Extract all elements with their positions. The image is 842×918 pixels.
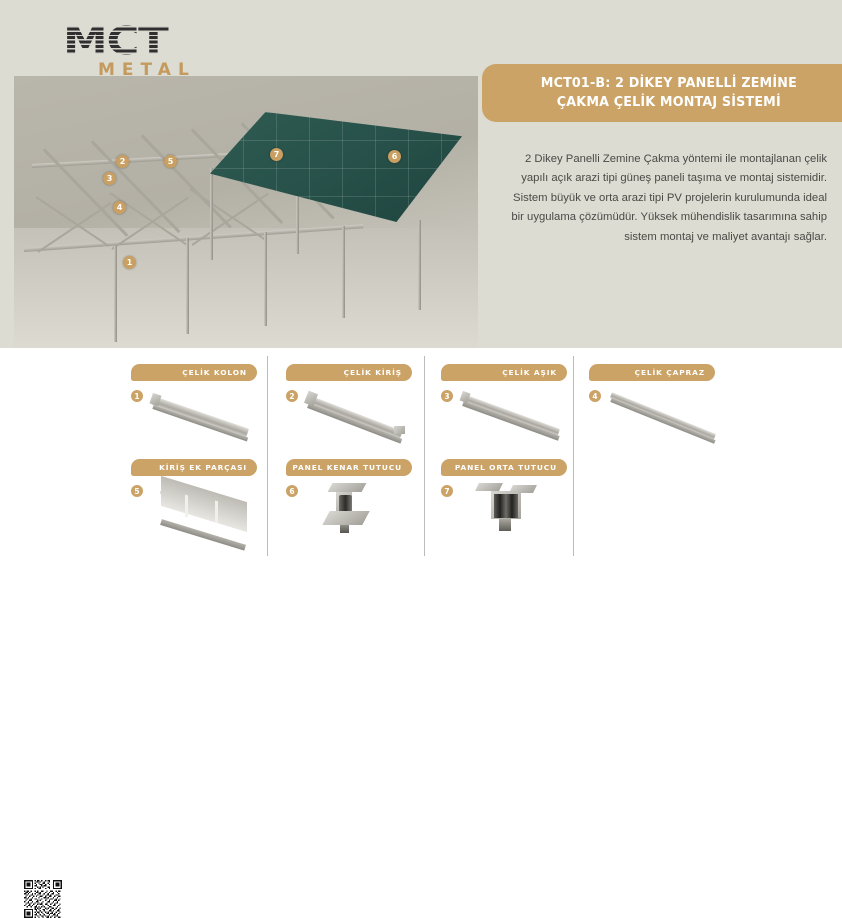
part-item-6: PANEL KENAR TUTUCU 6: [286, 459, 412, 476]
part-badge-5: 5: [131, 485, 143, 497]
part-item-2: ÇELİK KİRİŞ 2: [286, 364, 412, 381]
render-column: [264, 232, 267, 326]
part-item-1: ÇELİK KOLON 1: [131, 364, 257, 381]
column-divider: [573, 356, 574, 556]
product-title: MCT01-B: 2 DİKEY PANELLİ ZEMİNE ÇAKMA ÇE…: [514, 74, 810, 112]
part-item-4: ÇELİK ÇAPRAZ 4: [589, 364, 715, 381]
render-callout-7: 7: [270, 148, 283, 161]
render-callout-1: 1: [123, 256, 136, 269]
parts-section: ÇELİK KOLON 1 ÇELİK KİRİŞ 2 ÇELİK AŞIK 3…: [0, 348, 842, 595]
render-column: [114, 246, 117, 342]
part-art-mid-clamp: [473, 481, 547, 543]
part-label-7: PANEL ORTA TUTUCU: [441, 459, 567, 476]
part-badge-2: 2: [286, 390, 298, 402]
render-callout-3: 3: [103, 172, 116, 185]
render-column: [186, 238, 189, 334]
part-art-end-clamp: [322, 481, 392, 543]
part-art-steel-purlin: [461, 386, 565, 442]
top-section: MCT METAL: [0, 0, 842, 348]
part-label-6: PANEL KENAR TUTUCU: [286, 459, 412, 476]
part-label-4: ÇELİK ÇAPRAZ: [589, 364, 715, 381]
part-badge-6: 6: [286, 485, 298, 497]
product-title-line-1: MCT01-B: 2 DİKEY PANELLİ ZEMİNE: [540, 75, 796, 91]
part-badge-7: 7: [441, 485, 453, 497]
product-title-line-2: ÇAKMA ÇELİK MONTAJ SİSTEMİ: [540, 93, 796, 112]
part-badge-3: 3: [441, 390, 453, 402]
render-callout-6: 6: [388, 150, 401, 163]
part-label-3: ÇELİK AŞIK: [441, 364, 567, 381]
part-label-2: ÇELİK KİRİŞ: [286, 364, 412, 381]
product-render-image: 2 5 3 4 1 7 6: [14, 76, 478, 348]
part-art-beam-splice: [151, 481, 255, 543]
render-purlin: [141, 134, 232, 228]
part-badge-1: 1: [131, 390, 143, 402]
render-column: [210, 168, 213, 260]
part-label-5: KİRİŞ EK PARÇASI: [131, 459, 257, 476]
product-description: 2 Dikey Panelli Zemine Çakma yöntemi ile…: [505, 150, 827, 247]
part-art-steel-brace: [609, 386, 721, 442]
part-badge-4: 4: [589, 390, 601, 402]
render-column: [418, 220, 421, 310]
column-divider: [424, 356, 425, 556]
part-item-7: PANEL ORTA TUTUCU 7: [441, 459, 567, 476]
company-logo: MCT METAL: [60, 22, 210, 74]
render-callout-4: 4: [113, 201, 126, 214]
part-art-steel-column: [151, 386, 255, 442]
render-column: [342, 226, 345, 318]
render-purlin: [91, 140, 180, 232]
part-item-5: KİRİŞ EK PARÇASI 5: [131, 459, 257, 476]
render-callout-5: 5: [164, 155, 177, 168]
qr-code[interactable]: [24, 880, 62, 918]
column-divider: [267, 356, 268, 556]
part-item-3: ÇELİK AŞIK 3: [441, 364, 567, 381]
product-title-banner: MCT01-B: 2 DİKEY PANELLİ ZEMİNE ÇAKMA ÇE…: [482, 64, 842, 122]
part-label-1: ÇELİK KOLON: [131, 364, 257, 381]
logo-mct-text: MCT: [63, 22, 168, 60]
part-art-steel-beam: [306, 386, 410, 442]
render-callout-2: 2: [116, 155, 129, 168]
